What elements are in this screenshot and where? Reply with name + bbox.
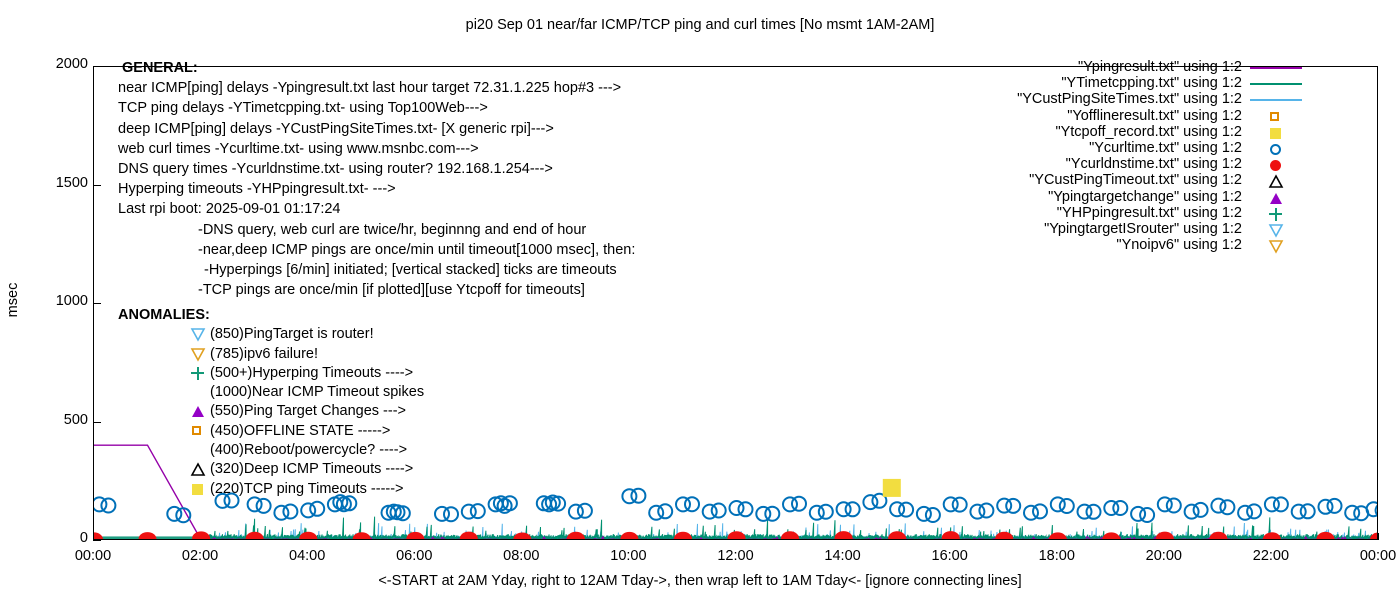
- anomaly-label: (500+)Hyperping Timeouts ---->: [210, 365, 413, 381]
- general-line: DNS query times -Ycurldnstime.txt- using…: [118, 161, 635, 181]
- y-tick-mark: [93, 540, 101, 541]
- x-tick-label: 18:00: [1017, 548, 1097, 564]
- general-line: Last rpi boot: 2025-09-01 01:17:24: [118, 201, 635, 221]
- general-indented-line: -near,deep ICMP pings are once/min until…: [118, 242, 635, 262]
- general-indented-line: -TCP pings are once/min [if plotted][use…: [118, 282, 635, 302]
- plus-teal-icon: [1268, 206, 1284, 222]
- triangle-up-filled-purple-icon: [190, 403, 206, 419]
- general-indented-line: -DNS query, web curl are twice/hr, begin…: [118, 222, 635, 242]
- triangle-down-open-lightblue-icon: [1268, 222, 1284, 238]
- anomalies-rows: (850)PingTarget is router!(785)ipv6 fail…: [118, 326, 424, 500]
- anomaly-label: (320)Deep ICMP Timeouts ---->: [210, 461, 413, 477]
- general-line: Hyperping timeouts -YHPpingresult.txt- -…: [118, 181, 635, 201]
- anomaly-row: (320)Deep ICMP Timeouts ---->: [118, 461, 424, 480]
- legend-item-label: "Ycurltime.txt" using 1:2: [822, 140, 1242, 156]
- general-indented-line: -Hyperpings [6/min] initiated; [vertical…: [118, 262, 635, 282]
- anomaly-label: (1000)Near ICMP Timeout spikes: [210, 384, 424, 400]
- legend-item-key: [1248, 109, 1304, 125]
- legend-item-label: "Ycurldnstime.txt" using 1:2: [822, 156, 1242, 172]
- legend-item-key: [1248, 76, 1304, 92]
- legend-item-label: "YpingtargetISrouter" using 1:2: [822, 221, 1242, 237]
- triangle-up-filled-purple-icon: [1268, 190, 1284, 206]
- legend-item-label: "Ypingresult.txt" using 1:2: [822, 59, 1242, 75]
- circle-open-blue-icon: [1268, 141, 1284, 157]
- legend-item-label: "YCustPingTimeout.txt" using 1:2: [822, 172, 1242, 188]
- anomaly-symbol: [190, 365, 208, 383]
- legend-item-key: [1248, 125, 1304, 141]
- anomaly-symbol: [190, 481, 208, 499]
- square-open-orange-icon: [1268, 109, 1284, 125]
- legend-item-key: [1248, 206, 1304, 222]
- legend-item-key: [1248, 190, 1304, 206]
- legend-item-label: "Yofflineresult.txt" using 1:2: [822, 108, 1242, 124]
- legend-item-key: [1248, 92, 1304, 108]
- x-tick-label: 14:00: [803, 548, 883, 564]
- anomaly-row: (450)OFFLINE STATE ----->: [118, 423, 424, 442]
- general-line: deep ICMP[ping] delays -YCustPingSiteTim…: [118, 121, 635, 141]
- x-tick-label: 04:00: [267, 548, 347, 564]
- anomaly-label: (785)ipv6 failure!: [210, 346, 318, 362]
- y-tick-label: 2000: [0, 56, 88, 72]
- line-purple-icon: [1270, 60, 1286, 76]
- anomaly-row: (400)Reboot/powercycle? ---->: [118, 442, 424, 461]
- legend-item-label: "Ynoipv6" using 1:2: [822, 237, 1242, 253]
- legend-item-key: [1248, 238, 1304, 254]
- anomaly-symbol: [190, 403, 208, 421]
- plus-teal-icon: [190, 365, 206, 381]
- triangle-down-open-lightblue-icon: [190, 326, 206, 342]
- anomalies-heading: ANOMALIES:: [118, 307, 424, 326]
- anomaly-symbol: [190, 423, 208, 441]
- general-annotation-block: GENERAL: near ICMP[ping] delays -Ypingre…: [118, 60, 635, 302]
- square-filled-yellow-icon: [190, 481, 206, 497]
- x-tick-label: 00:00: [1338, 548, 1400, 564]
- anomaly-symbol: [190, 346, 208, 364]
- y-axis-label: msec: [5, 270, 21, 330]
- legend-item-label: "YHPpingresult.txt" using 1:2: [822, 205, 1242, 221]
- x-tick-label: 16:00: [910, 548, 990, 564]
- legend-item-label: "YCustPingSiteTimes.txt" using 1:2: [822, 91, 1242, 107]
- x-axis-label: <-START at 2AM Yday, right to 12AM Tday-…: [0, 573, 1400, 589]
- x-tick-mark: [1378, 533, 1379, 540]
- triangle-up-open-black-icon: [1268, 173, 1284, 189]
- triangle-down-open-orange-icon: [1268, 238, 1284, 254]
- x-tick-label: 22:00: [1231, 548, 1311, 564]
- legend-item-key: [1248, 141, 1304, 157]
- anomalies-annotation-block: ANOMALIES: (850)PingTarget is router!(78…: [118, 307, 424, 500]
- x-tick-label: 20:00: [1124, 548, 1204, 564]
- legend-item-label: "YTimetcpping.txt" using 1:2: [822, 75, 1242, 91]
- line-lightblue-icon: [1270, 92, 1286, 108]
- anomaly-row: (220)TCP ping Timeouts ----->: [118, 481, 424, 500]
- triangle-down-open-orange-icon: [190, 346, 206, 362]
- general-line: TCP ping delays -YTimetcpping.txt- using…: [118, 100, 635, 120]
- square-open-orange-icon: [190, 423, 206, 439]
- anomaly-label: (400)Reboot/powercycle? ---->: [210, 442, 407, 458]
- chart-root: pi20 Sep 01 near/far ICMP/TCP ping and c…: [0, 0, 1400, 600]
- triangle-up-open-black-icon: [190, 461, 206, 477]
- legend-item-key: [1248, 60, 1304, 76]
- legend-item-label: "Ytcpoff_record.txt" using 1:2: [822, 124, 1242, 140]
- legend-item-key: [1248, 157, 1304, 173]
- anomaly-row: (1000)Near ICMP Timeout spikes: [118, 384, 424, 403]
- y-tick-label: 500: [0, 412, 88, 428]
- general-line: near ICMP[ping] delays -Ypingresult.txt …: [118, 80, 635, 100]
- legend-item-label: "Ypingtargetchange" using 1:2: [822, 189, 1242, 205]
- x-tick-label: 02:00: [160, 548, 240, 564]
- anomaly-row: (550)Ping Target Changes --->: [118, 403, 424, 422]
- chart-title: pi20 Sep 01 near/far ICMP/TCP ping and c…: [0, 17, 1400, 33]
- square-filled-yellow-icon: [1268, 125, 1284, 141]
- anomaly-row: (500+)Hyperping Timeouts ---->: [118, 365, 424, 384]
- anomaly-symbol: [190, 326, 208, 344]
- anomaly-label: (220)TCP ping Timeouts ----->: [210, 481, 404, 497]
- general-heading: GENERAL:: [118, 60, 635, 80]
- legend-item-key: [1248, 173, 1304, 189]
- line-teal-icon: [1270, 76, 1286, 92]
- anomaly-symbol: [190, 461, 208, 479]
- y-tick-label: 1500: [0, 175, 88, 191]
- x-tick-label: 08:00: [481, 548, 561, 564]
- x-tick-label: 00:00: [53, 548, 133, 564]
- anomaly-label: (850)PingTarget is router!: [210, 326, 374, 342]
- general-line: web curl times -Ycurltime.txt- using www…: [118, 141, 635, 161]
- anomaly-row: (785)ipv6 failure!: [118, 346, 424, 365]
- x-tick-label: 10:00: [588, 548, 668, 564]
- x-tick-label: 06:00: [374, 548, 454, 564]
- anomaly-row: (850)PingTarget is router!: [118, 326, 424, 345]
- anomaly-label: (450)OFFLINE STATE ----->: [210, 423, 390, 439]
- y-tick-label: 0: [0, 530, 88, 546]
- circle-filled-red-icon: [1268, 157, 1284, 173]
- legend-item-key: [1248, 222, 1304, 238]
- general-lines: near ICMP[ping] delays -Ypingresult.txt …: [118, 80, 635, 221]
- x-tick-label: 12:00: [696, 548, 776, 564]
- general-indented-lines: -DNS query, web curl are twice/hr, begin…: [118, 222, 635, 303]
- anomaly-label: (550)Ping Target Changes --->: [210, 403, 406, 419]
